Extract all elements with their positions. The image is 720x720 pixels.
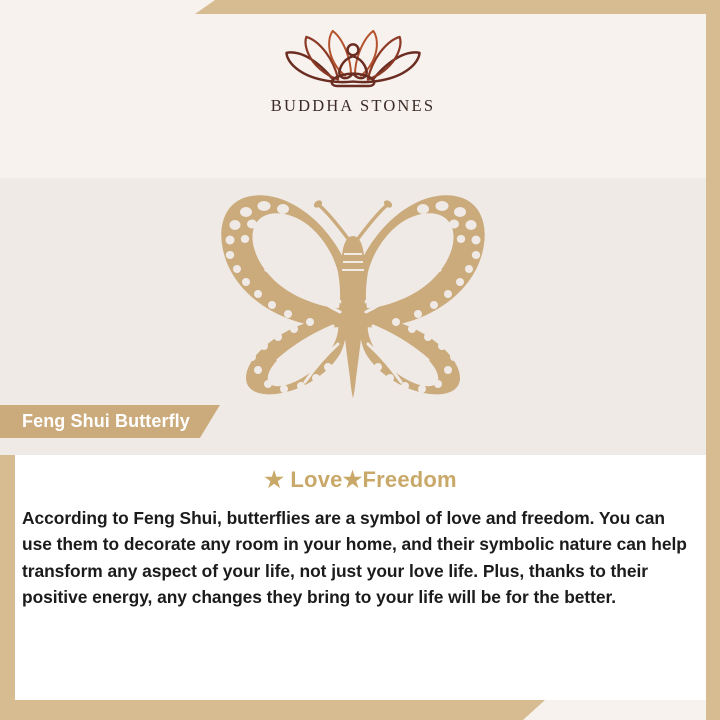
butterfly-icon — [188, 192, 518, 402]
gold-bottom-band-decor — [0, 700, 545, 720]
description-panel: ★ Love★Freedom According to Feng Shui, b… — [15, 455, 706, 700]
brand-name: BUDDHA STONES — [271, 96, 435, 116]
lotus-meditation-icon — [278, 28, 428, 90]
promo-graphic-page: BUDDHA STONES — [0, 0, 720, 720]
ribbon-label: Feng Shui Butterfly — [22, 411, 190, 432]
description-paragraph: According to Feng Shui, butterflies are … — [15, 493, 706, 611]
gold-top-band-decor — [195, 0, 720, 14]
butterfly-illustration — [188, 192, 518, 402]
brand-header: BUDDHA STONES — [0, 14, 706, 124]
love-freedom-subheading: ★ Love★Freedom — [15, 455, 706, 493]
gold-right-band-decor — [706, 14, 720, 720]
feng-shui-butterfly-ribbon: Feng Shui Butterfly — [0, 405, 220, 438]
